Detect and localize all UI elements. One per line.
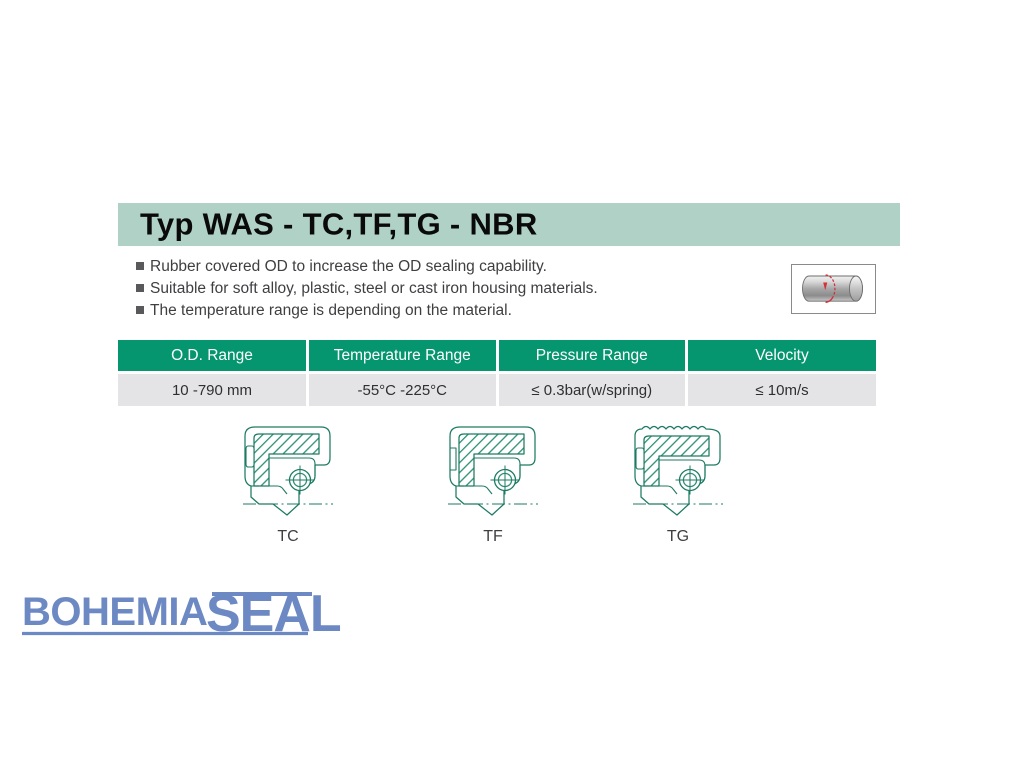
feature-list: Rubber covered OD to increase the OD sea… — [136, 256, 736, 322]
column-header-temperature-range: Temperature Range — [308, 340, 498, 373]
shaft-rotation-icon-box — [791, 264, 876, 314]
cell-pressure-range: ≤ 0.3bar(w/spring) — [497, 373, 687, 407]
seal-label-tg: TG — [603, 528, 753, 546]
seal-label-tc: TC — [213, 528, 363, 546]
bohemia-seal-logo: BOHEMIA SEAL — [16, 583, 416, 645]
feature-text: The temperature range is depending on th… — [150, 300, 512, 322]
cell-velocity: ≤ 10m/s — [687, 373, 877, 407]
list-item: Rubber covered OD to increase the OD sea… — [136, 256, 736, 278]
feature-text: Rubber covered OD to increase the OD sea… — [150, 256, 547, 278]
seal-diagram-tc — [229, 418, 347, 524]
square-bullet-icon — [136, 284, 144, 292]
shaft-rotation-icon — [792, 265, 875, 313]
seal-figure-tf: TF — [418, 418, 568, 546]
table-row: 10 -790 mm -55°C -225°C ≤ 0.3bar(w/sprin… — [118, 373, 876, 407]
page-title: Typ WAS - TC,TF,TG - NBR — [140, 206, 538, 242]
list-item: Suitable for soft alloy, plastic, steel … — [136, 278, 736, 300]
column-header-od-range: O.D. Range — [118, 340, 308, 373]
logo-text-bohemia: BOHEMIA — [22, 590, 207, 634]
seal-label-tf: TF — [418, 528, 568, 546]
title-band: Typ WAS - TC,TF,TG - NBR — [118, 203, 900, 246]
seal-figure-tg: TG — [603, 418, 753, 546]
list-item: The temperature range is depending on th… — [136, 300, 736, 322]
column-header-velocity: Velocity — [687, 340, 877, 373]
seal-figure-tc: TC — [213, 418, 363, 546]
square-bullet-icon — [136, 262, 144, 270]
square-bullet-icon — [136, 306, 144, 314]
seal-diagram-row: TC — [118, 418, 876, 553]
specification-table: O.D. Range Temperature Range Pressure Ra… — [118, 340, 876, 406]
cell-temperature-range: -55°C -225°C — [308, 373, 498, 407]
seal-diagram-tf — [434, 418, 552, 524]
cell-od-range: 10 -790 mm — [118, 373, 308, 407]
table-header-row: O.D. Range Temperature Range Pressure Ra… — [118, 340, 876, 373]
company-logo: BOHEMIA SEAL — [16, 583, 416, 645]
seal-diagram-tg — [619, 418, 737, 524]
column-header-pressure-range: Pressure Range — [497, 340, 687, 373]
feature-text: Suitable for soft alloy, plastic, steel … — [150, 278, 598, 300]
